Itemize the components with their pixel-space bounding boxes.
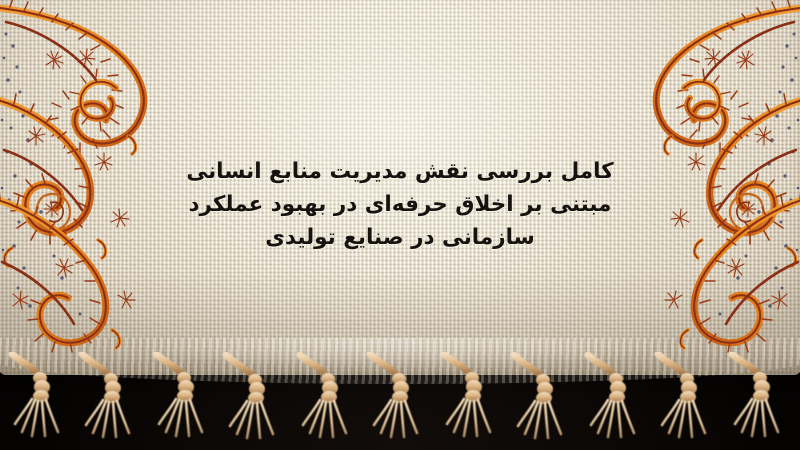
title-card-canvas: کامل بررسی نقش مدیریت منابع انسانی مبتنی… [0,0,800,450]
linen-cloth [0,0,800,375]
